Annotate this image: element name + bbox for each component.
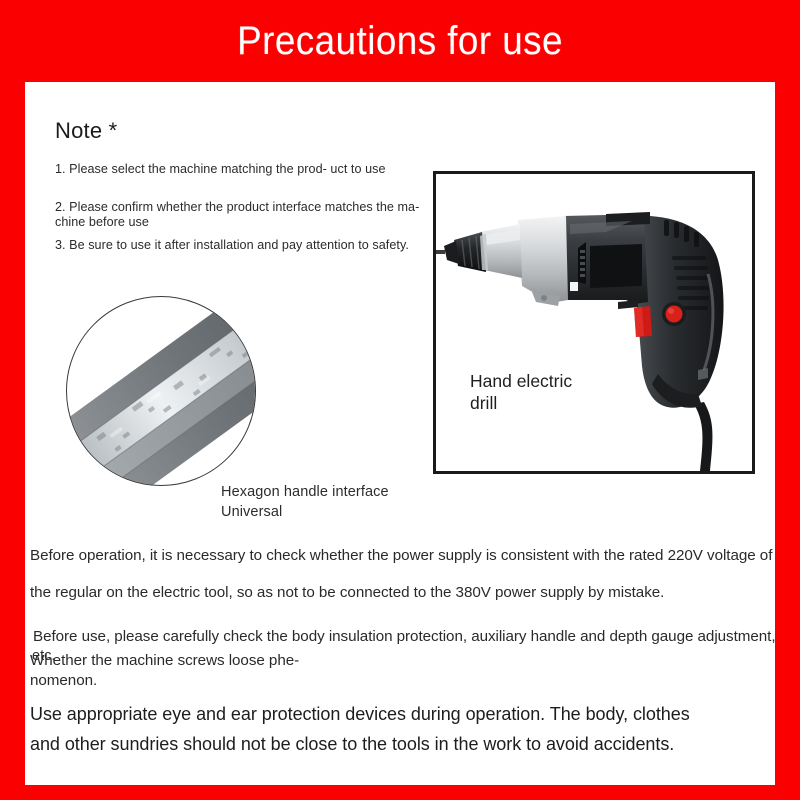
body-paragraph-1-line-2: the regular on the electric tool, so as …: [30, 584, 664, 601]
hexagon-bit-photo: [66, 296, 256, 486]
body-paragraph-3-line-2: nomenon.: [30, 672, 97, 689]
note-item: 2. Please confirm whether the product in…: [55, 200, 430, 230]
body-paragraph-2-line-1: Before use, please carefully check the b…: [33, 628, 776, 645]
drill-caption: Hand electric drill: [470, 370, 572, 414]
note-heading: Note *: [55, 118, 117, 144]
hexagon-caption-line-2: Universal: [221, 504, 282, 520]
hexagon-caption-line-1: Hexagon handle interface: [221, 484, 389, 500]
body-paragraph-1-line-1: Before operation, it is necessary to che…: [30, 547, 772, 564]
title-band: Precautions for use: [0, 0, 800, 82]
hexagon-shank-illustration: [66, 296, 256, 486]
precautions-poster: Precautions for use Note * 1. Please sel…: [0, 0, 800, 800]
drill-photo-frame: Hand electric drill: [433, 171, 755, 474]
content-panel: Note * 1. Please select the machine matc…: [25, 82, 775, 785]
body-paragraph-3-line-1: Whether the machine screws loose phe-: [30, 652, 299, 669]
electric-drill-illustration: [436, 174, 752, 471]
note-item: 1. Please select the machine matching th…: [55, 162, 415, 177]
note-item: 3. Be sure to use it after installation …: [55, 238, 435, 253]
page-title: Precautions for use: [237, 21, 563, 61]
body-paragraph-4-line-2: and other sundries should not be close t…: [30, 734, 674, 755]
body-paragraph-4-line-1: Use appropriate eye and ear protection d…: [30, 704, 690, 725]
